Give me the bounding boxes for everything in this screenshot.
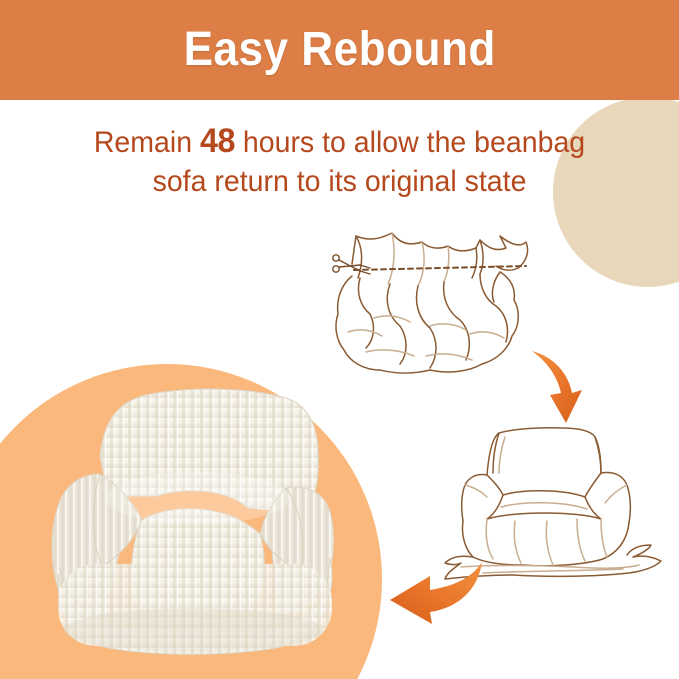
hours-value: 48 bbox=[200, 122, 235, 160]
subtitle-line-2: sofa return to its original state bbox=[17, 162, 662, 201]
subtitle-suffix: hours to allow the beanbag bbox=[235, 126, 585, 159]
page-title: Easy Rebound bbox=[183, 26, 495, 74]
illustration-compressed-bag bbox=[330, 222, 545, 387]
beanbag-sofa-illustration bbox=[38, 378, 348, 663]
subtitle-prefix: Remain bbox=[94, 126, 200, 159]
arrow-left-to-product-icon bbox=[368, 552, 488, 637]
header-banner: Easy Rebound bbox=[0, 0, 679, 100]
subtitle-line-1: Remain 48 hours to allow the beanbag bbox=[17, 122, 662, 162]
infographic-canvas: Easy Rebound Remain 48 hours to allow th… bbox=[0, 0, 679, 679]
product-photo-beanbag-sofa bbox=[38, 378, 348, 663]
subtitle-text: Remain 48 hours to allow the beanbag sof… bbox=[17, 122, 662, 201]
